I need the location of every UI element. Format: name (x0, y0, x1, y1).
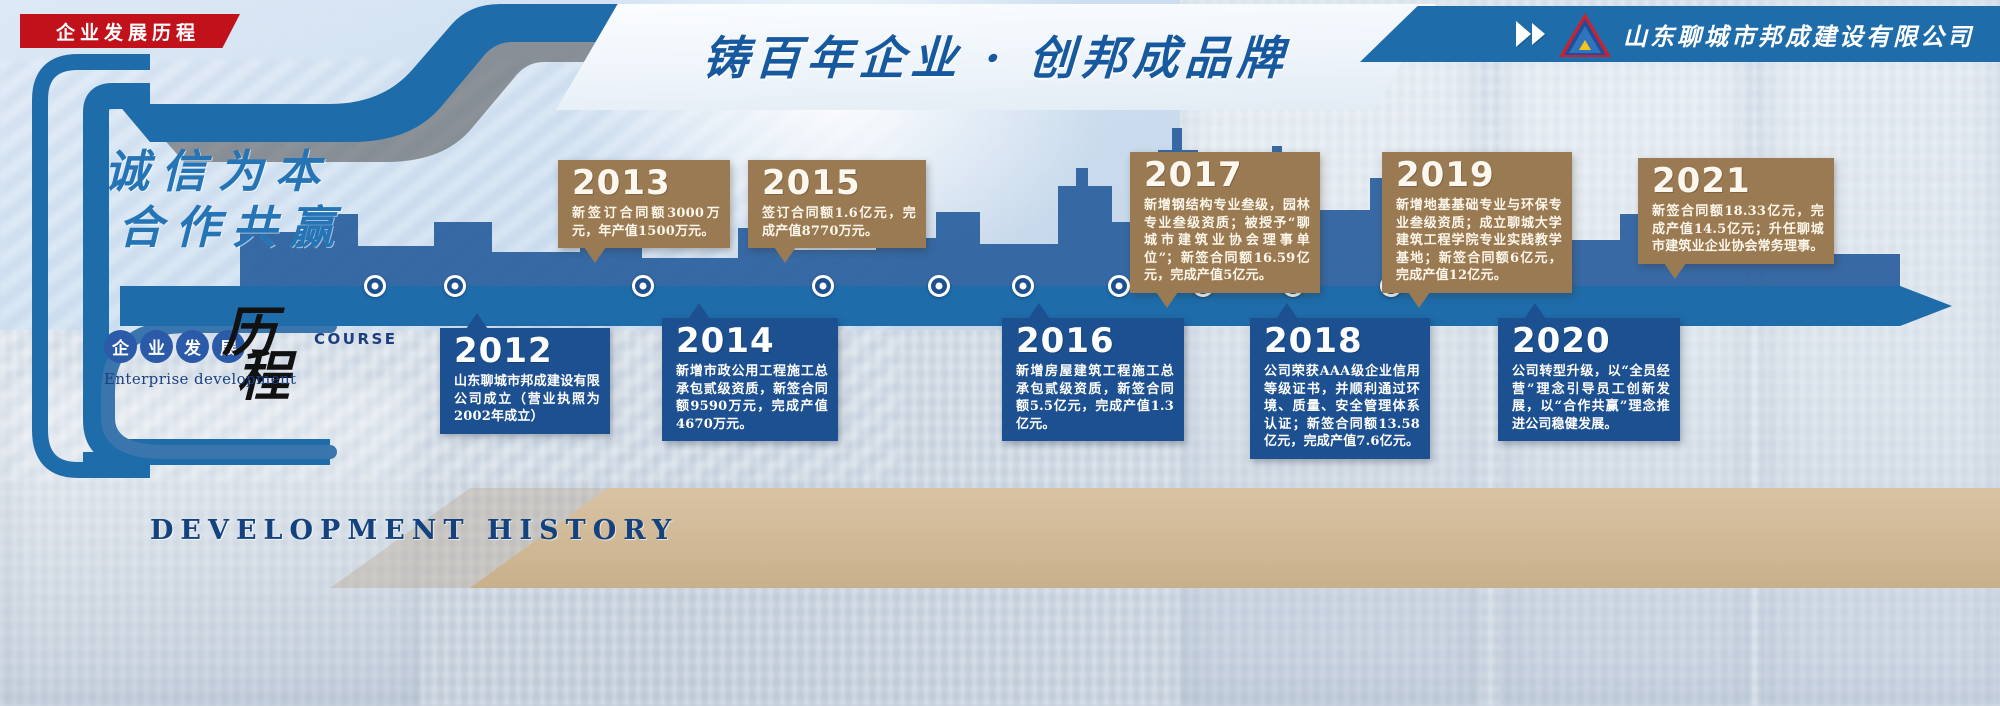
company-name: 山东聊城市邦成建设有限公司 (1623, 17, 1974, 52)
card-body-2020: 公司转型升级，以“全员经营”理念引导员工创新发展，以“合作共赢”理念推进公司稳健… (1512, 363, 1670, 433)
card-body-2017: 新增钢结构专业叁级，园林专业叁级资质；被授予“聊城市建筑业协会理事单位”；新签合… (1144, 197, 1310, 285)
card-year-2012: 2012 (454, 334, 600, 368)
timeline-card-2017[interactable]: 2017 新增钢结构专业叁级，园林专业叁级资质；被授予“聊城市建筑业协会理事单位… (1130, 152, 1320, 293)
timeline-node-2017[interactable] (1012, 275, 1034, 297)
timeline-card-2013[interactable]: 2013 新签订合同额3000万元，年产值1500万元。 (558, 160, 730, 248)
card-body-2021: 新签合同额18.33亿元，完成产值14.5亿元；升任聊城市建筑业企业协会常务理事… (1652, 203, 1824, 256)
card-body-2016: 新增房屋建筑工程施工总承包贰级资质，新签合同额5.5亿元，完成产值1.3亿元。 (1016, 363, 1174, 433)
timeline-card-2020[interactable]: 2020 公司转型升级，以“全员经营”理念引导员工创新发展，以“合作共赢”理念推… (1498, 318, 1680, 441)
card-year-2013: 2013 (572, 166, 720, 200)
card-year-2021: 2021 (1652, 164, 1824, 198)
card-body-2013: 新签订合同额3000万元，年产值1500万元。 (572, 205, 720, 240)
section-ribbon: 企业发展历程 (20, 14, 240, 48)
card-year-2017: 2017 (1144, 158, 1310, 192)
timeline-node-2013[interactable] (444, 275, 466, 297)
timeline-card-2016[interactable]: 2016 新增房屋建筑工程施工总承包贰级资质，新签合同额5.5亿元，完成产值1.… (1002, 318, 1184, 441)
timeline-card-2012[interactable]: 2012 山东聊城市邦成建设有限公司成立（营业执照为2002年成立） (440, 328, 610, 434)
badge-course-label: COURSE (314, 330, 398, 348)
bottom-tan-strip (470, 488, 2000, 588)
timeline-node-2015[interactable] (812, 275, 834, 297)
badge-english-label: Enterprise development (104, 370, 296, 388)
footer-title: DEVELOPMENT HISTORY (150, 515, 678, 546)
brand-band: 山东聊城市邦成建设有限公司 (1360, 6, 2000, 62)
triangle-logo-icon (1559, 11, 1611, 57)
timeline-node-2014[interactable] (632, 275, 654, 297)
badge-circle-1: 企 (104, 330, 137, 363)
timeline-card-2015[interactable]: 2015 签订合同额1.6亿元，完成产值8770万元。 (748, 160, 926, 248)
timeline-card-2014[interactable]: 2014 新增市政公用工程施工总承包贰级资质，新签合同额9590万元，完成产值4… (662, 318, 838, 441)
timeline-node-2018[interactable] (1108, 275, 1130, 297)
card-body-2014: 新增市政公用工程施工总承包贰级资质，新签合同额9590万元，完成产值4670万元… (676, 363, 828, 433)
motto-line-1: 诚信为本 (104, 144, 404, 200)
course-badge: 企 业 发 展 历 程 COURSE Enterprise developmen… (100, 316, 370, 404)
poster-canvas: 企业发展历程 铸百年企业 · 创邦成品牌 山东聊城市邦成建设有限公司 诚信为本 … (0, 0, 2000, 706)
ribbon-label: 企业发展历程 (56, 18, 200, 45)
company-motto: 诚信为本 合作共赢 (104, 144, 404, 257)
motto-line-2: 合作共赢 (118, 200, 404, 256)
card-year-2019: 2019 (1396, 158, 1562, 192)
badge-circle-2: 业 (140, 330, 173, 363)
card-body-2015: 签订合同额1.6亿元，完成产值8770万元。 (762, 205, 916, 240)
timeline-card-2018[interactable]: 2018 公司荣获AAA级企业信用等级证书，并顺利通过环境、质量、安全管理体系认… (1250, 318, 1430, 459)
main-slogan: 铸百年企业 · 创邦成品牌 (594, 16, 1398, 94)
card-year-2018: 2018 (1264, 324, 1420, 358)
timeline-node-2016[interactable] (928, 275, 950, 297)
timeline-card-2021[interactable]: 2021 新签合同额18.33亿元，完成产值14.5亿元；升任聊城市建筑业企业协… (1638, 158, 1834, 264)
double-chevron-icon (1516, 21, 1545, 47)
card-year-2014: 2014 (676, 324, 828, 358)
card-body-2018: 公司荣获AAA级企业信用等级证书，并顺利通过环境、质量、安全管理体系认证；新签合… (1264, 363, 1420, 451)
card-year-2020: 2020 (1512, 324, 1670, 358)
card-body-2019: 新增地基基础专业与环保专业叁级资质；成立聊城大学建筑工程学院专业实践教学基地；新… (1396, 197, 1562, 285)
card-year-2015: 2015 (762, 166, 916, 200)
card-year-2016: 2016 (1016, 324, 1174, 358)
card-body-2012: 山东聊城市邦成建设有限公司成立（营业执照为2002年成立） (454, 373, 600, 426)
badge-circle-3: 发 (176, 330, 209, 363)
timeline-node-2012[interactable] (364, 275, 386, 297)
timeline-card-2019[interactable]: 2019 新增地基基础专业与环保专业叁级资质；成立聊城大学建筑工程学院专业实践教… (1382, 152, 1572, 293)
